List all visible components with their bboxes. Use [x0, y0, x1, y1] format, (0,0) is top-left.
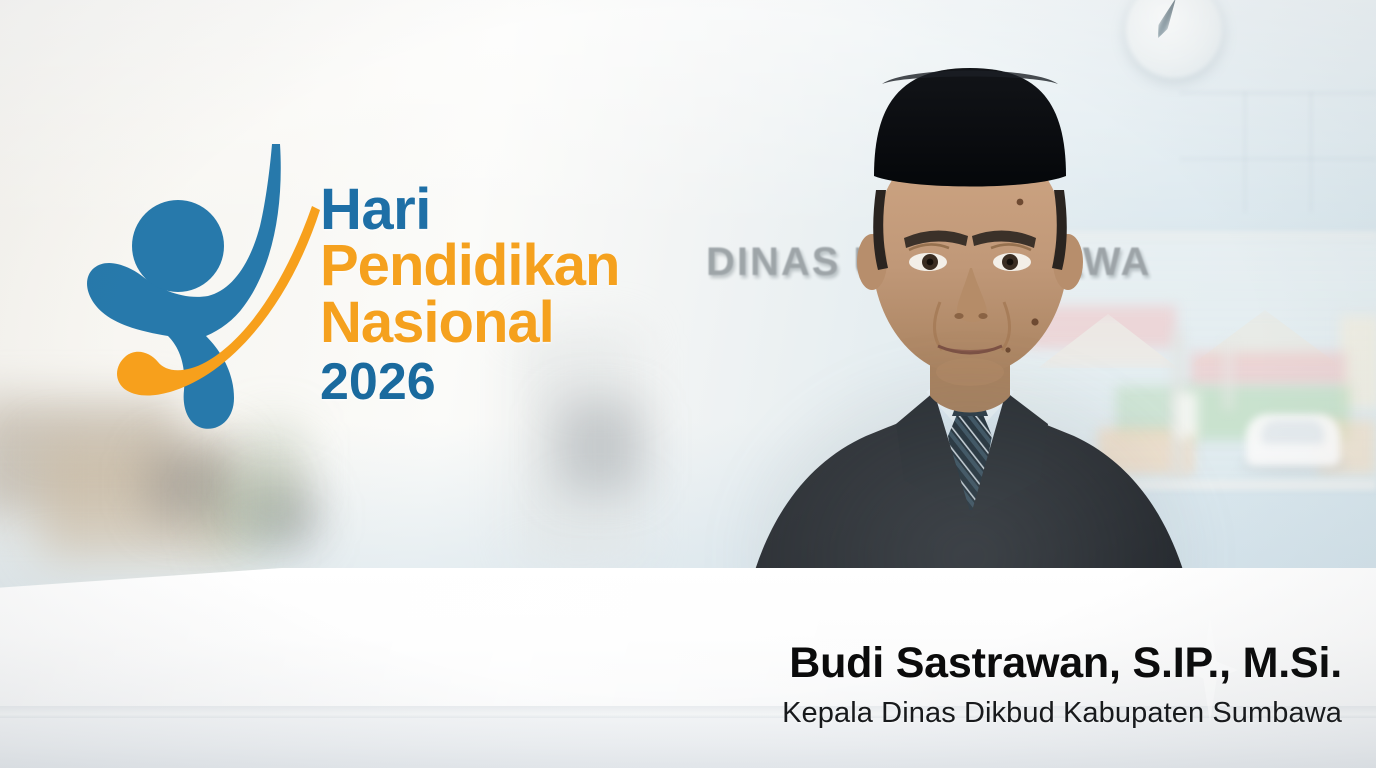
- hpn-wordmark: Hari Pendidikan Nasional 2026: [320, 182, 619, 407]
- foreground-desk: [0, 548, 1376, 768]
- logo-line-nasional: Nasional: [320, 295, 619, 351]
- logo-line-hari: Hari: [320, 182, 619, 238]
- desk-front-panel: [0, 718, 1376, 768]
- car-window: [1262, 420, 1324, 444]
- logo-year: 2026: [320, 357, 619, 407]
- wall-panel-line: [1310, 92, 1312, 212]
- logo-line-pendidikan: Pendidikan: [320, 238, 619, 294]
- video-frame: DINAS UD SUMBAWA Hari Pendidikan Nasiona…: [0, 0, 1376, 768]
- hpn-figure-mark-icon: [84, 140, 324, 430]
- desk-surface: [0, 568, 1376, 708]
- hpn-logo: Hari Pendidikan Nasional 2026: [84, 140, 704, 440]
